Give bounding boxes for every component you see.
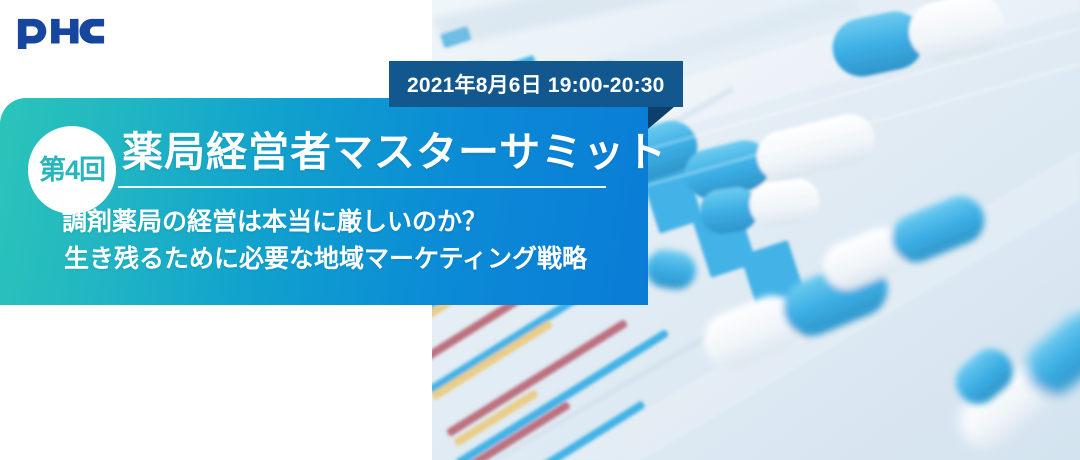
ribbon-fold-shape <box>648 107 674 129</box>
event-date-badge: 2021年8月6日 19:00-20:30 <box>389 61 683 107</box>
event-title: 薬局経営者マスターサミット <box>122 130 667 175</box>
banner-stage: 2021年8月6日 19:00-20:30 第4回 薬局経営者マスターサミット … <box>0 0 1080 460</box>
event-banner: 第4回 薬局経営者マスターサミット 調剤薬局の経営は本当に厳しいのか？ 生き残る… <box>0 98 648 305</box>
event-date-text: 2021年8月6日 19:00-20:30 <box>407 69 665 99</box>
event-subtitle-line-2: 生き残るために必要な地域マーケティング戦略 <box>62 241 587 278</box>
edition-badge: 第4回 <box>28 126 116 214</box>
event-subtitle: 調剤薬局の経営は本当に厳しいのか？ 生き残るために必要な地域マーケティング戦略 <box>62 204 587 278</box>
phc-logo <box>16 16 106 62</box>
edition-badge-label: 第4回 <box>39 157 105 184</box>
banner-content: 第4回 薬局経営者マスターサミット 調剤薬局の経営は本当に厳しいのか？ 生き残る… <box>0 98 648 305</box>
title-divider <box>118 186 606 188</box>
event-subtitle-line-1: 調剤薬局の経営は本当に厳しいのか？ <box>62 204 587 241</box>
